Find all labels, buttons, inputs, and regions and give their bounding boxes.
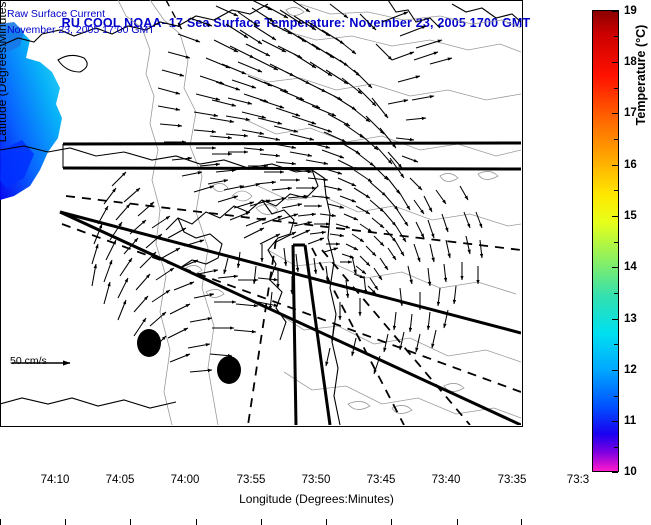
bathymetry-contours [118, 0, 521, 425]
x-axis-label: Longitude (Degrees:Minutes) [55, 492, 578, 506]
radar-site-markers [137, 329, 241, 384]
cb-tick-0 [612, 11, 618, 12]
cb-mtick-0 [614, 36, 618, 37]
colorbar-label-7: 12 [624, 364, 637, 376]
colorbar-axis-label: Temperature (°C) [634, 0, 648, 170]
colorbar-label-6: 13 [624, 313, 637, 325]
sst-raster-layer [0, 22, 62, 200]
radar-coverage-radials [60, 0, 521, 425]
x-tick-label-2: 74:00 [171, 474, 200, 486]
cb-tick-8 [612, 421, 618, 422]
cb-mtick-4 [614, 242, 618, 243]
right-arrow-icon [10, 355, 80, 371]
annotation-line-2: November 23, 2005 17:00 GMT [7, 24, 155, 36]
cb-tick-5 [612, 267, 618, 268]
cb-tick-1 [612, 62, 618, 63]
cb-tick-3 [612, 165, 618, 166]
cb-mtick-8 [614, 447, 618, 448]
colorbar-label-4: 15 [624, 210, 637, 222]
x-tick-label-7: 73:35 [498, 474, 527, 486]
cb-tick-4 [612, 216, 618, 217]
cb-mtick-3 [614, 190, 618, 191]
x-tick-label-5: 73:45 [367, 474, 396, 486]
scale-legend: 50 cm/s [10, 355, 47, 367]
x-tick-label-0: 74:10 [41, 474, 70, 486]
cb-mtick-5 [614, 293, 618, 294]
x-tick-label-3: 73:55 [237, 474, 266, 486]
cb-tick-9 [612, 472, 618, 473]
colorbar-label-8: 11 [624, 415, 636, 427]
x-tick-label-8: 73:3 [567, 474, 589, 486]
cb-tick-6 [612, 319, 618, 320]
cb-mtick-7 [614, 396, 618, 397]
colorbar-label-9: 10 [624, 466, 637, 478]
map-plot-area[interactable]: Raw Surface Current November 23, 2005 17… [0, 0, 523, 427]
cb-mtick-6 [614, 344, 618, 345]
cb-tick-2 [612, 113, 618, 114]
x-tick-label-1: 74:05 [106, 474, 135, 486]
annotation-line-1: Raw Surface Current [7, 8, 105, 20]
colorbar-label-5: 14 [624, 261, 637, 273]
colorbar [592, 10, 619, 472]
colorbar-gradient [593, 11, 618, 471]
x-tick-label-4: 73:50 [302, 474, 331, 486]
cb-tick-7 [612, 370, 618, 371]
cb-mtick-2 [614, 139, 618, 140]
x-tick-label-6: 73:40 [432, 474, 461, 486]
cb-mtick-1 [614, 88, 618, 89]
